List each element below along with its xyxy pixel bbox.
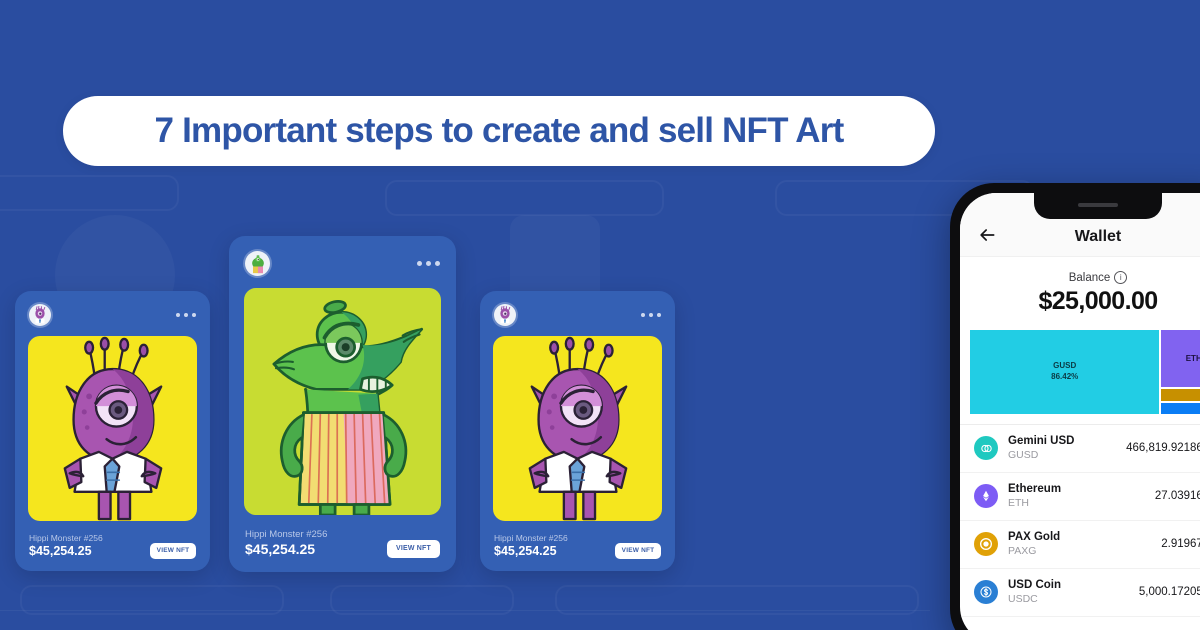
view-nft-button[interactable]: VIEW NFT — [387, 540, 440, 558]
card-header — [15, 291, 210, 326]
phone-mockup: Wallet Balance i $25,000.00 GUSD 86.42% — [950, 183, 1200, 630]
nft-name: Hippi Monster #256 — [245, 529, 327, 541]
view-nft-button[interactable]: VIEW NFT — [615, 543, 661, 559]
asset-names: Ethereum ETH — [1008, 483, 1155, 510]
balance-label-row: Balance i — [960, 271, 1200, 284]
back-arrow-icon[interactable] — [976, 224, 998, 246]
nft-card-right[interactable]: Hippi Monster #256 $45,254.25 VIEW NFT — [480, 291, 675, 571]
card-footer: Hippi Monster #256 $45,254.25 VIEW NFT — [480, 521, 675, 559]
nft-card-left[interactable]: Hippi Monster #256 $45,254.25 VIEW NFT — [15, 291, 210, 571]
nft-price: $45,254.25 — [245, 541, 327, 558]
asset-names: USD Coin USDC — [1008, 579, 1139, 606]
nft-artwork — [244, 288, 441, 515]
info-icon[interactable]: i — [1114, 271, 1127, 284]
nft-artwork — [493, 336, 662, 521]
banner-title-pill: 7 Important steps to create and sell NFT… — [63, 96, 935, 166]
avatar — [494, 304, 516, 326]
balance-label: Balance — [1069, 272, 1111, 284]
treemap-block-usdc[interactable] — [1161, 403, 1200, 414]
treemap-right-column: ETH — [1161, 330, 1200, 414]
avatar — [29, 304, 51, 326]
asset-amount: 5,000.17205460 — [1139, 586, 1200, 598]
asset-row-eth[interactable]: Ethereum ETH 27.03916017 — [960, 473, 1200, 521]
card-footer: Hippi Monster #256 $45,254.25 VIEW NFT — [229, 515, 456, 558]
portfolio-treemap[interactable]: GUSD 86.42% ETH — [970, 330, 1200, 414]
treemap-gusd-label: GUSD 86.42% — [1051, 361, 1078, 383]
asset-name: Ethereum — [1008, 483, 1155, 497]
asset-name: Gemini USD — [1008, 435, 1126, 449]
eth-icon — [974, 484, 998, 508]
card-header — [229, 236, 456, 276]
gusd-icon — [974, 436, 998, 460]
treemap-gusd-symbol: GUSD — [1051, 361, 1078, 372]
asset-names: PAX Gold PAXG — [1008, 531, 1161, 558]
treemap-eth-label: ETH — [1186, 354, 1200, 363]
treemap-gusd-percent: 86.42% — [1051, 372, 1078, 383]
treemap-block-eth[interactable]: ETH — [1161, 330, 1200, 387]
nft-artwork — [28, 336, 197, 521]
phone-speaker — [1078, 203, 1118, 207]
phone-screen: Wallet Balance i $25,000.00 GUSD 86.42% — [960, 193, 1200, 630]
nft-card-center[interactable]: Hippi Monster #256 $45,254.25 VIEW NFT — [229, 236, 456, 572]
treemap-block-gusd[interactable]: GUSD 86.42% — [970, 330, 1159, 414]
nft-name: Hippi Monster #256 — [29, 533, 103, 544]
asset-list: Gemini USD GUSD 466,819.92186272 Ethereu… — [960, 424, 1200, 617]
asset-symbol: USDC — [1008, 593, 1139, 606]
balance-amount: $25,000.00 — [960, 287, 1200, 316]
asset-names: Gemini USD GUSD — [1008, 435, 1126, 462]
treemap-small-row-2 — [1161, 403, 1200, 414]
usdc-icon — [974, 580, 998, 604]
bg-decoration — [385, 180, 664, 216]
treemap-block-paxg[interactable] — [1161, 389, 1200, 400]
nft-price: $45,254.25 — [494, 544, 568, 559]
bg-decoration — [0, 175, 179, 211]
card-footer: Hippi Monster #256 $45,254.25 VIEW NFT — [15, 521, 210, 559]
asset-row-usdc[interactable]: USD Coin USDC 5,000.17205460 — [960, 569, 1200, 617]
asset-symbol: GUSD — [1008, 449, 1126, 462]
asset-amount: 27.03916017 — [1155, 490, 1200, 502]
asset-row-gusd[interactable]: Gemini USD GUSD 466,819.92186272 — [960, 425, 1200, 473]
asset-amount: 2.91967318 — [1161, 538, 1200, 550]
paxg-icon — [974, 532, 998, 556]
asset-amount: 466,819.92186272 — [1126, 442, 1200, 454]
asset-symbol: PAXG — [1008, 545, 1161, 558]
card-menu-dots[interactable] — [417, 261, 440, 266]
card-menu-dots[interactable] — [641, 313, 661, 317]
card-menu-dots[interactable] — [176, 313, 196, 317]
avatar — [245, 251, 270, 276]
phone-notch — [1034, 193, 1162, 219]
nft-name: Hippi Monster #256 — [494, 533, 568, 544]
card-header — [480, 291, 675, 326]
view-nft-button[interactable]: VIEW NFT — [150, 543, 196, 559]
asset-symbol: ETH — [1008, 497, 1155, 510]
bg-divider — [0, 610, 930, 611]
nft-price: $45,254.25 — [29, 544, 103, 559]
banner-canvas: 7 Important steps to create and sell NFT… — [0, 0, 1200, 630]
asset-name: PAX Gold — [1008, 531, 1161, 545]
balance-block: Balance i $25,000.00 — [960, 257, 1200, 326]
page-title: 7 Important steps to create and sell NFT… — [155, 111, 844, 151]
treemap-small-row-1 — [1161, 389, 1200, 400]
asset-name: USD Coin — [1008, 579, 1139, 593]
asset-row-paxg[interactable]: PAX Gold PAXG 2.91967318 — [960, 521, 1200, 569]
